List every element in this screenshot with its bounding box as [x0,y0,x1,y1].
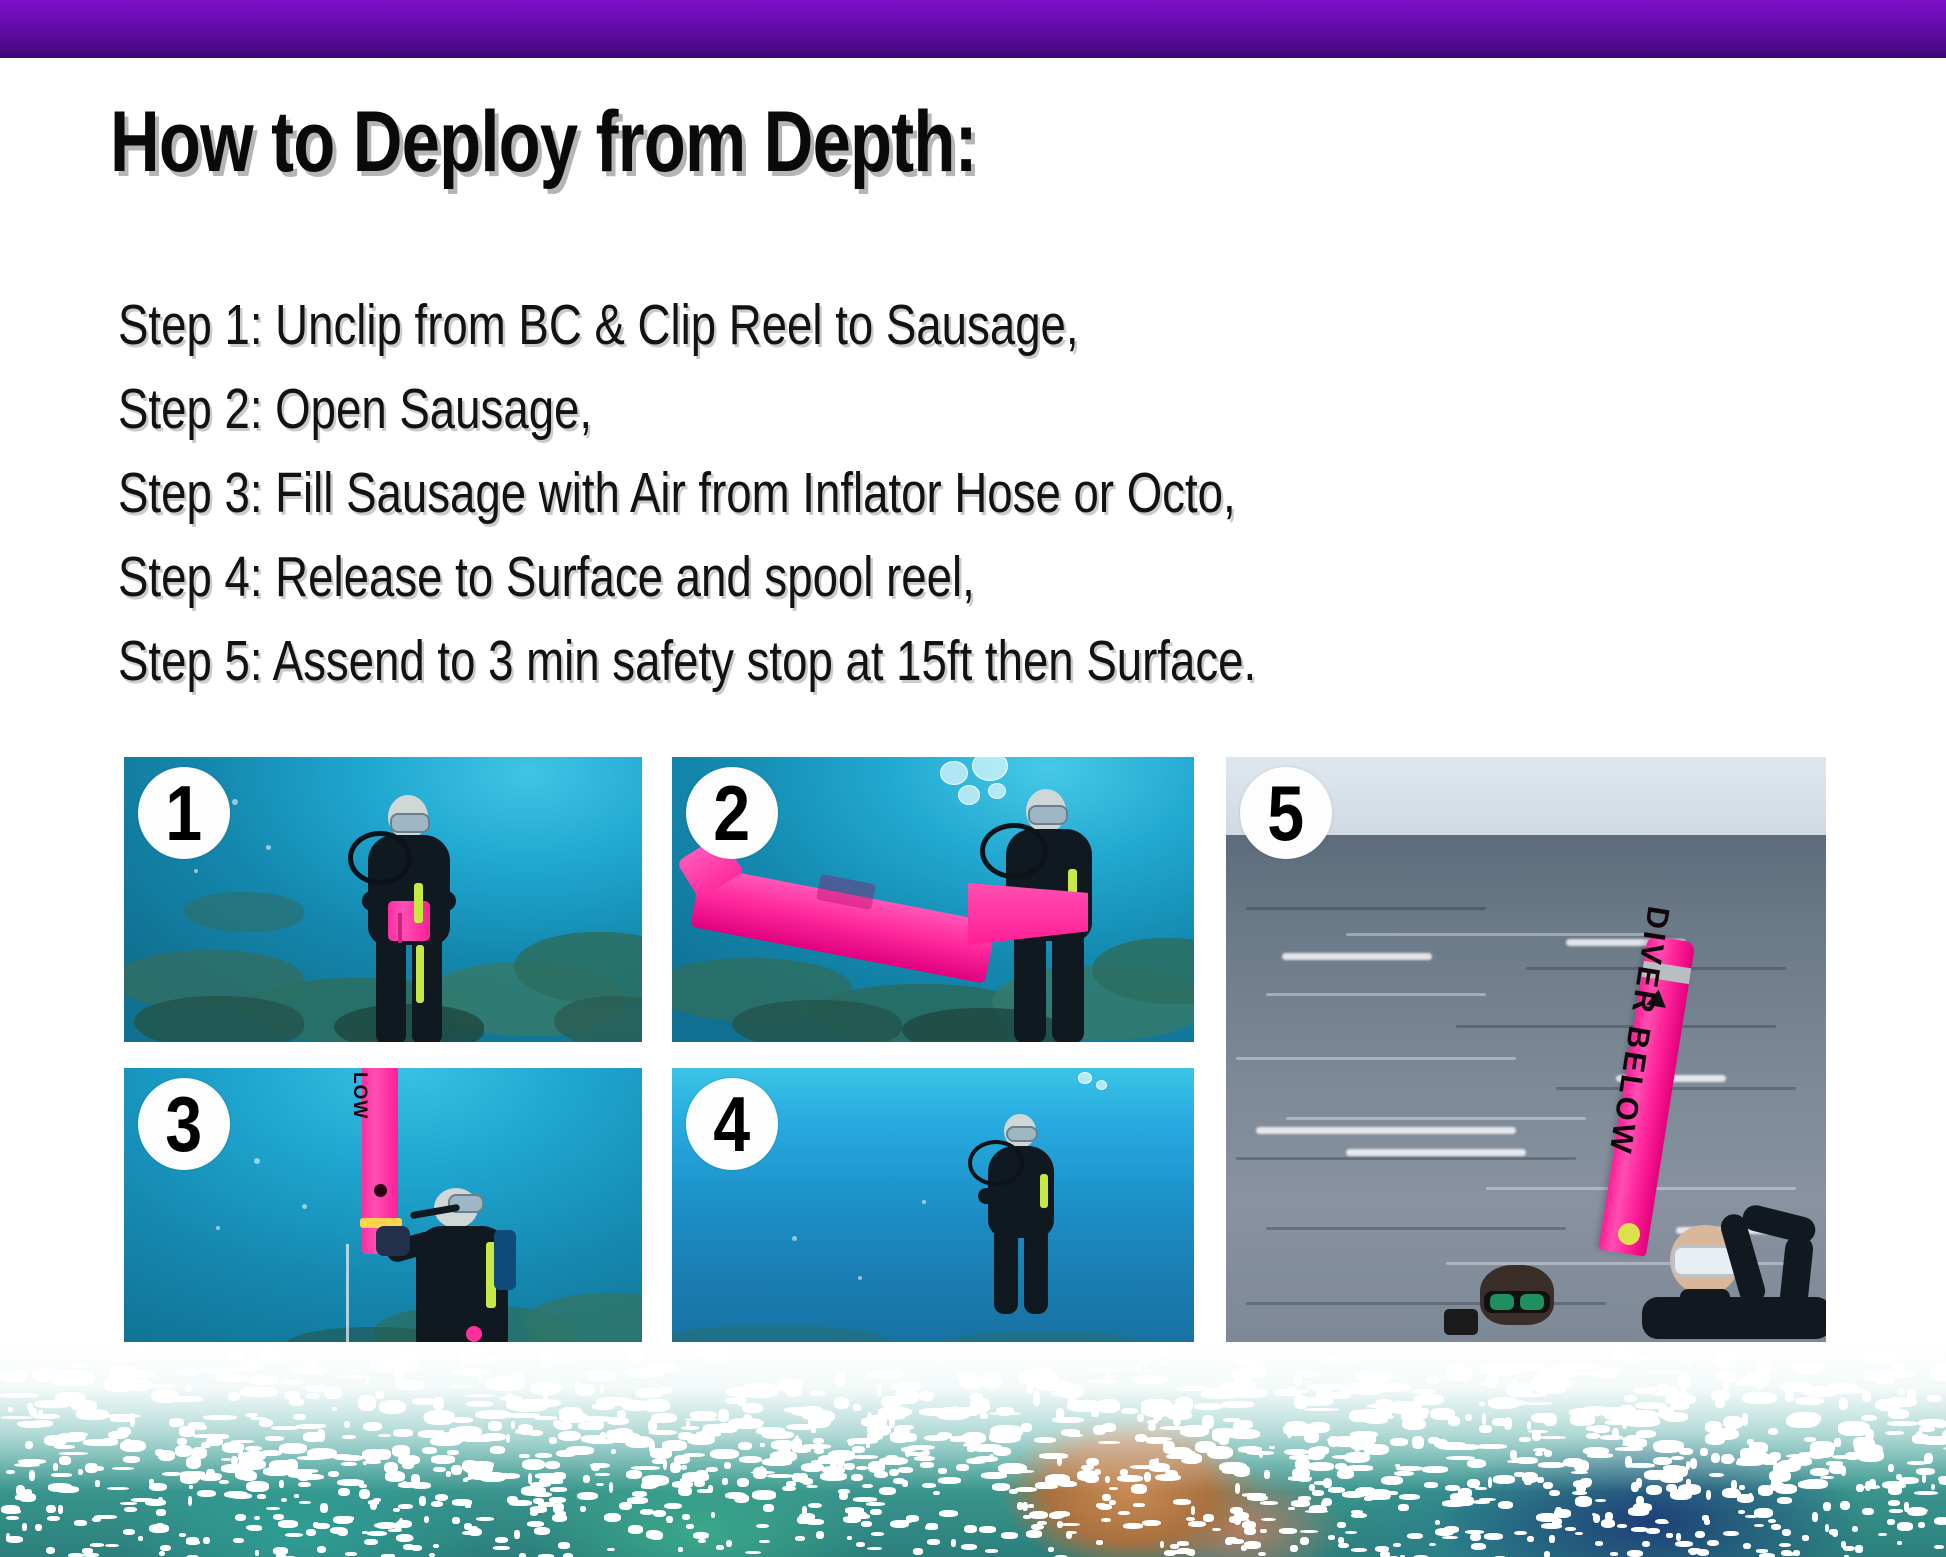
diver-figure-3 [390,1186,540,1355]
page-title: How to Deploy from Depth: [110,96,977,188]
photo-badge-4: 4 [686,1078,778,1170]
smb-label-3: LOW [330,1072,370,1094]
diver-figure-1 [346,795,476,1042]
photo-badge-1: 1 [138,767,230,859]
step-item-1: Step 1: Unclip from BC & Clip Reel to Sa… [118,283,1256,367]
photo-badge-2: 2 [686,767,778,859]
diver-figure-4 [964,1114,1084,1314]
photo-panel-2: 2 [672,757,1194,1042]
photo-badge-5: 5 [1240,767,1332,859]
step-item-5: Step 5: Assend to 3 min safety stop at 1… [118,619,1256,703]
bottom-reef-strip [0,1342,1946,1557]
photo-badge-5-number: 5 [1268,774,1305,852]
diver-figure-5b [1622,1205,1822,1345]
photo-panel-3: LOW 3 [124,1068,642,1355]
coral-reef-fade [0,1342,1946,1492]
photo-panel-5: DIVER BELOW 5 [1226,757,1826,1355]
diver-figure-5a [1462,1249,1592,1339]
top-purple-band [0,0,1946,58]
photo-panel-1: 1 [124,757,642,1042]
photo-badge-3: 3 [138,1078,230,1170]
photo-badge-4-number: 4 [714,1085,751,1163]
folded-smb-1 [388,901,430,941]
step-item-4: Step 4: Release to Surface and spool ree… [118,535,1256,619]
step-list: Step 1: Unclip from BC & Clip Reel to Sa… [118,283,1256,703]
step-item-3: Step 3: Fill Sausage with Air from Infla… [118,451,1256,535]
bubble [940,761,968,785]
step-item-2: Step 2: Open Sausage, [118,367,1256,451]
photo-panel-4: 4 [672,1068,1194,1355]
photo-badge-1-number: 1 [166,774,203,852]
photo-badge-3-number: 3 [166,1085,203,1163]
photo-badge-2-number: 2 [714,774,751,852]
